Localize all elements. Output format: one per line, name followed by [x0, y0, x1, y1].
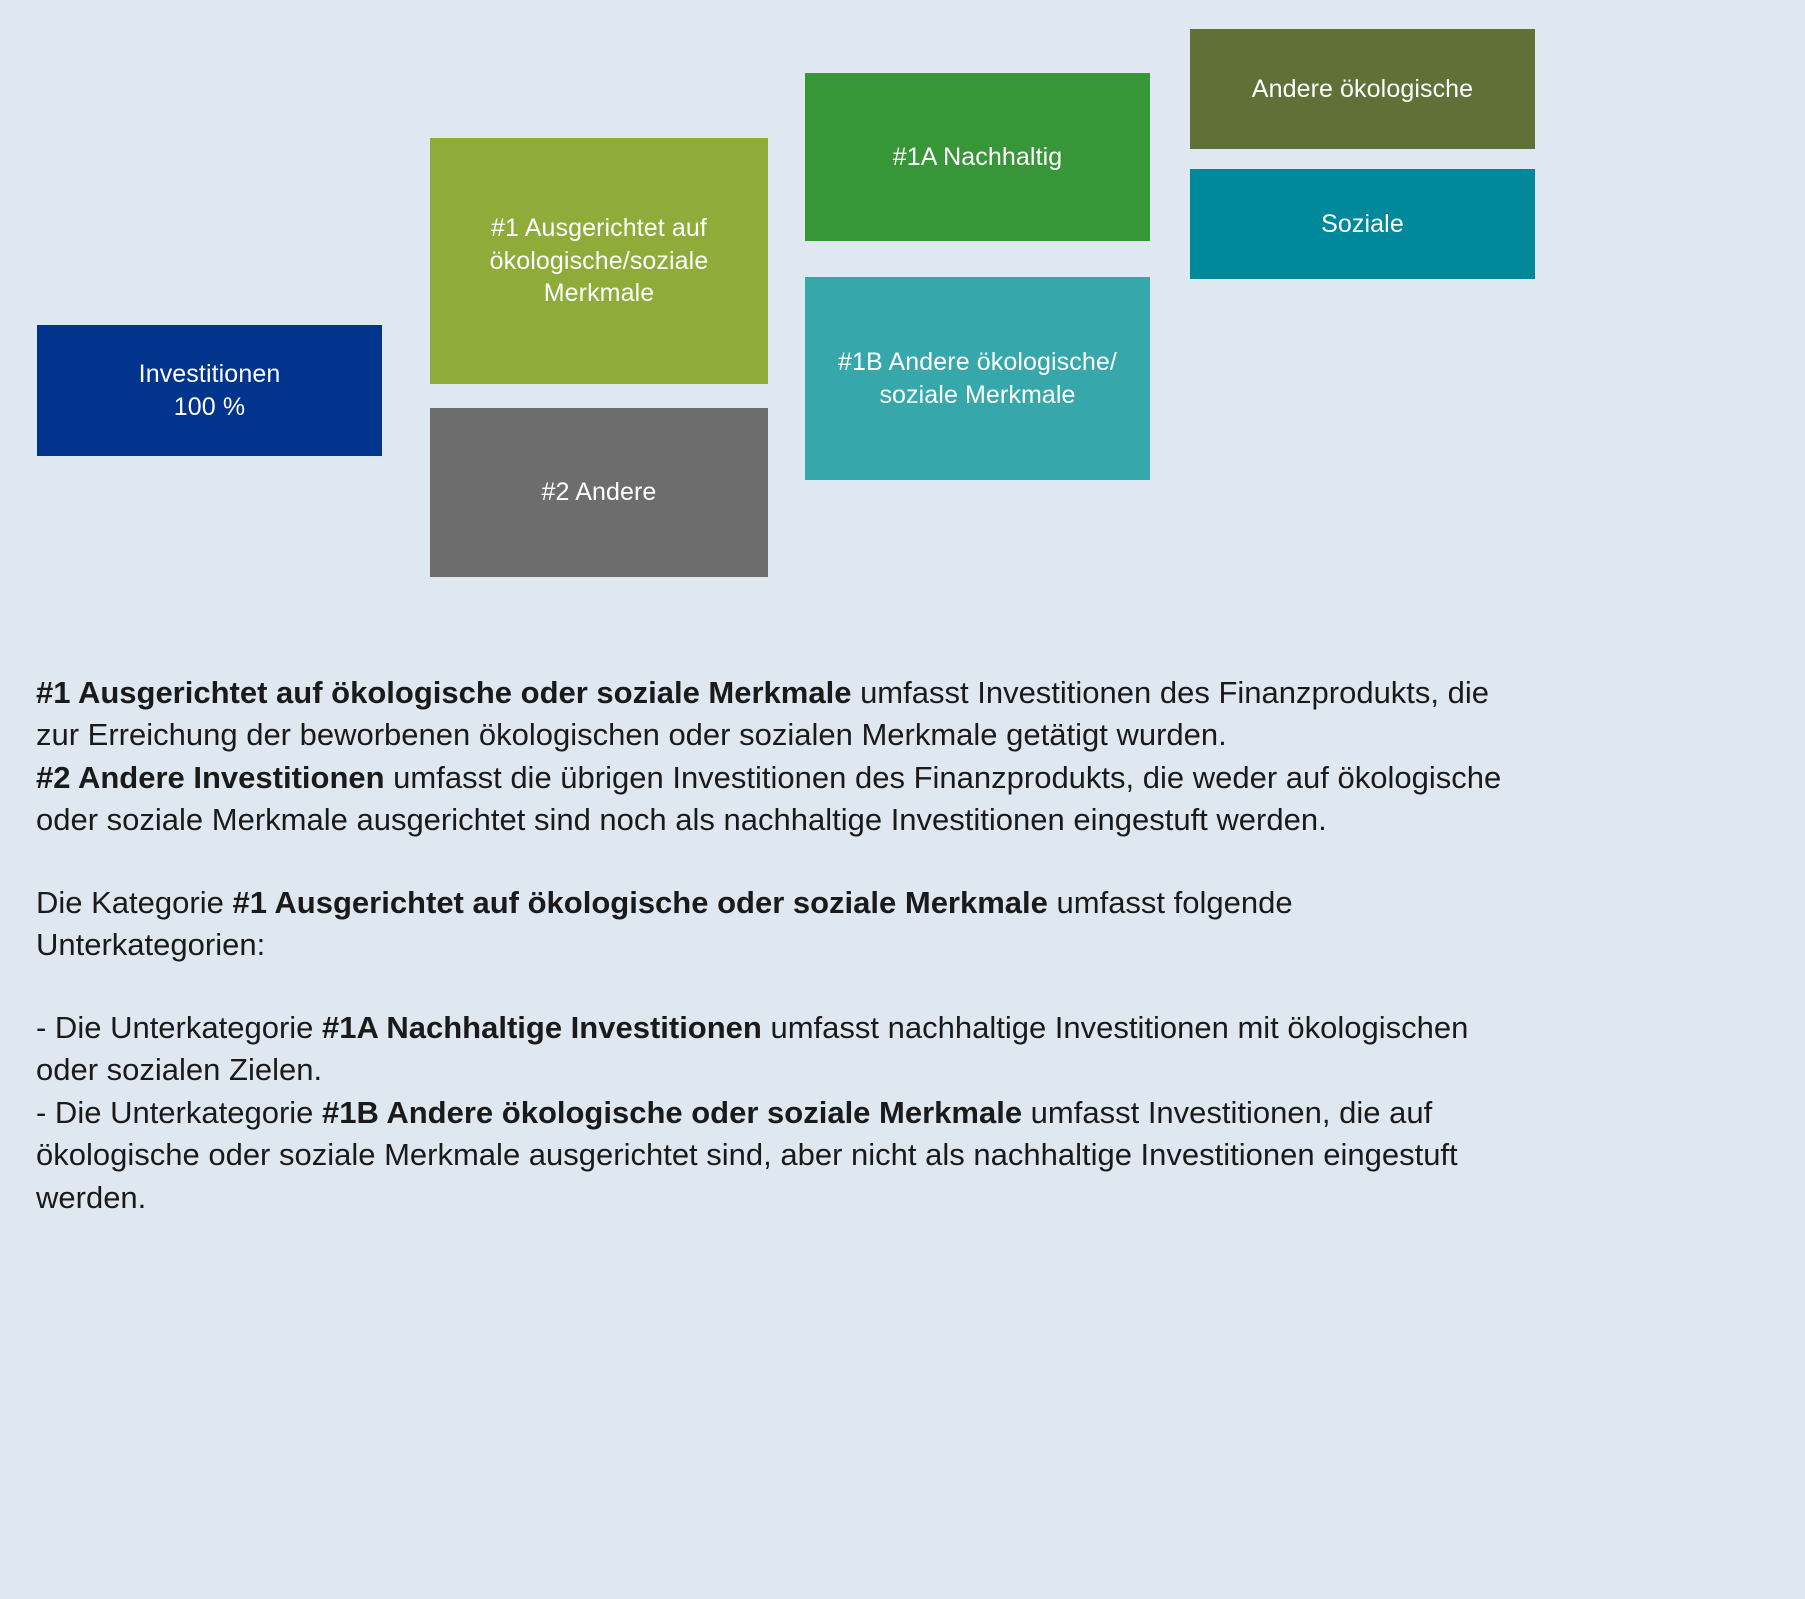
paragraph-category-2-bold: #2 Andere Investitionen — [36, 760, 385, 795]
diagram-node-investitionen: Investitionen 100 % — [37, 325, 382, 456]
diagram-node-subcategory-1a-label: #1A Nachhaltig — [893, 141, 1063, 174]
diagram-node-investitionen-label: Investitionen 100 % — [139, 358, 281, 423]
diagram-node-soziale-label: Soziale — [1321, 208, 1404, 241]
paragraph-category-2: #2 Andere Investitionen umfasst die übri… — [36, 757, 1526, 842]
diagram-node-category-1: #1 Ausgerichtet auf ökologische/soziale … — [430, 138, 768, 384]
explanatory-text-block: #1 Ausgerichtet auf ökologische oder soz… — [36, 672, 1526, 1219]
diagram-node-category-2-label: #2 Andere — [542, 476, 657, 509]
paragraph-subcategory-1b-lead: - Die Unterkategorie — [36, 1095, 322, 1130]
paragraph-subcategory-1a-bold: #1A Nachhaltige Investitionen — [322, 1010, 762, 1045]
paragraph-category-1: #1 Ausgerichtet auf ökologische oder soz… — [36, 672, 1526, 757]
diagram-node-andere-oekologische: Andere ökologische — [1190, 29, 1535, 149]
diagram-node-soziale: Soziale — [1190, 169, 1535, 279]
diagram-node-category-2: #2 Andere — [430, 408, 768, 577]
paragraph-spacer-2 — [36, 967, 1526, 1007]
diagram-node-subcategory-1b: #1B Andere ökologische/ soziale Merkmale — [805, 277, 1150, 480]
paragraph-subcategories-intro-lead: Die Kategorie — [36, 885, 232, 920]
paragraph-subcategory-1a: - Die Unterkategorie #1A Nachhaltige Inv… — [36, 1007, 1526, 1092]
diagram-node-category-1-label: #1 Ausgerichtet auf ökologische/soziale … — [440, 212, 758, 310]
paragraph-subcategory-1b: - Die Unterkategorie #1B Andere ökologis… — [36, 1092, 1526, 1219]
paragraph-subcategory-1a-lead: - Die Unterkategorie — [36, 1010, 322, 1045]
diagram-node-subcategory-1a: #1A Nachhaltig — [805, 73, 1150, 241]
page-root: Investitionen 100 % #1 Ausgerichtet auf … — [0, 0, 1805, 1599]
paragraph-spacer-1 — [36, 842, 1526, 882]
paragraph-subcategories-intro-bold: #1 Ausgerichtet auf ökologische oder soz… — [232, 885, 1047, 920]
paragraph-subcategory-1b-bold: #1B Andere ökologische oder soziale Merk… — [322, 1095, 1022, 1130]
paragraph-category-1-bold: #1 Ausgerichtet auf ökologische oder soz… — [36, 675, 851, 710]
diagram-node-andere-oekologische-label: Andere ökologische — [1252, 73, 1473, 106]
paragraph-subcategories-intro: Die Kategorie #1 Ausgerichtet auf ökolog… — [36, 882, 1526, 967]
diagram-node-subcategory-1b-label: #1B Andere ökologische/ soziale Merkmale — [815, 346, 1140, 411]
sfdr-investment-category-diagram: Investitionen 100 % #1 Ausgerichtet auf … — [0, 0, 1805, 640]
